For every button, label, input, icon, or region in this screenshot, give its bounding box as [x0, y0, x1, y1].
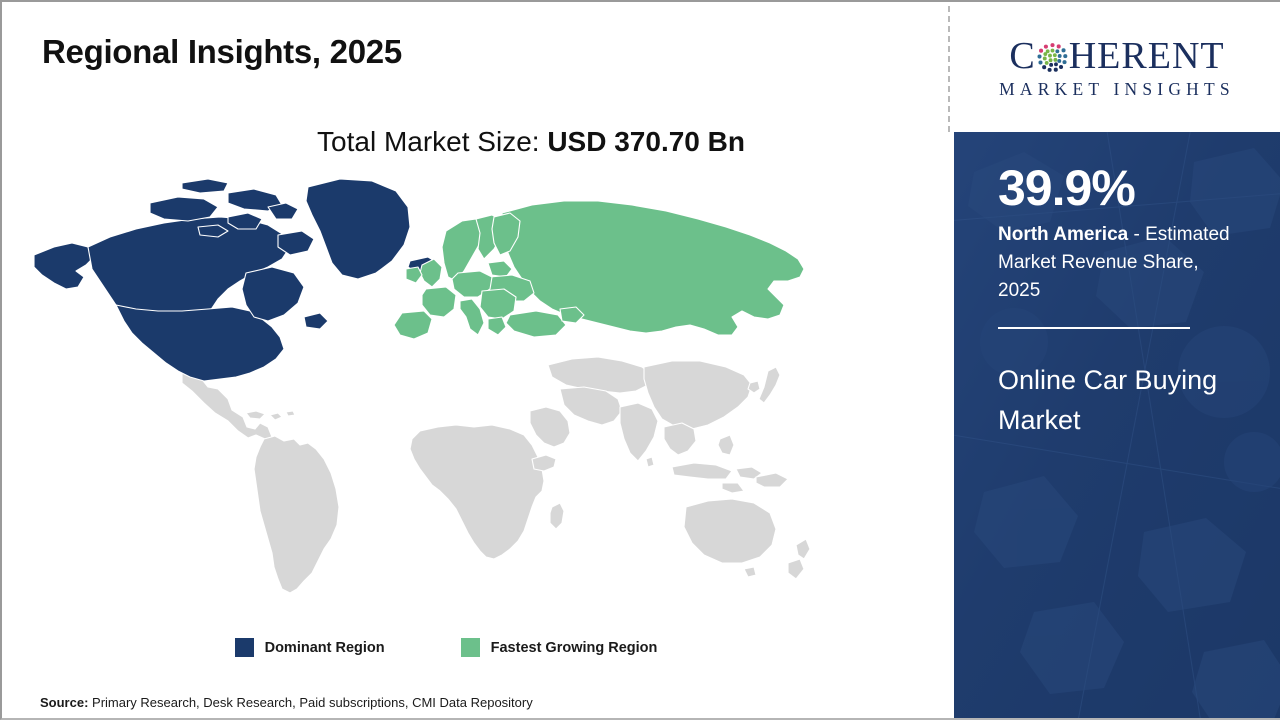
company-logo: C — [962, 18, 1272, 118]
logo-wordmark: C — [1009, 37, 1224, 75]
total-market-size: Total Market Size: USD 370.70 Bn — [2, 126, 950, 158]
source-label: Source: — [40, 695, 88, 710]
total-market-size-label: Total Market Size: — [317, 126, 547, 157]
world-map-svg — [32, 177, 832, 617]
stat-percentage: 39.9% — [998, 162, 1238, 215]
main-content-area: Regional Insights, 2025 Total Market Siz… — [2, 2, 950, 718]
map-region-other — [182, 357, 810, 593]
vertical-divider — [948, 6, 950, 132]
stat-region-name: North America — [998, 224, 1128, 245]
legend-item-fastest-growing: Fastest Growing Region — [461, 638, 658, 657]
legend-label-fastest-growing: Fastest Growing Region — [491, 640, 658, 656]
logo-tagline: MARKET INSIGHTS — [999, 79, 1235, 100]
legend-label-dominant: Dominant Region — [265, 640, 385, 656]
stat-caption: North America - Estimated Market Revenue… — [998, 221, 1238, 305]
market-name: Online Car Buying Market — [998, 361, 1238, 441]
map-region-europe — [394, 201, 804, 339]
dotted-globe-icon — [1037, 42, 1068, 73]
logo-letter-c: C — [1009, 37, 1035, 75]
dominant-region-swatch-icon — [235, 638, 254, 657]
legend-item-dominant: Dominant Region — [235, 638, 385, 657]
infographic-page: Regional Insights, 2025 Total Market Siz… — [0, 0, 1280, 720]
fastest-growing-region-swatch-icon — [461, 638, 480, 657]
side-panel-content: 39.9% North America - Estimated Market R… — [954, 132, 1280, 441]
stat-side-panel: 39.9% North America - Estimated Market R… — [954, 132, 1280, 720]
logo-text-herent: HERENT — [1069, 37, 1225, 75]
world-map — [32, 177, 832, 617]
source-text: Primary Research, Desk Research, Paid su… — [88, 695, 532, 710]
page-title: Regional Insights, 2025 — [42, 33, 402, 71]
map-legend: Dominant Region Fastest Growing Region — [2, 638, 950, 657]
source-note: Source: Primary Research, Desk Research,… — [40, 695, 533, 710]
map-region-north-america — [34, 179, 438, 381]
total-market-size-value: USD 370.70 Bn — [547, 126, 745, 157]
panel-divider-rule — [998, 327, 1190, 329]
